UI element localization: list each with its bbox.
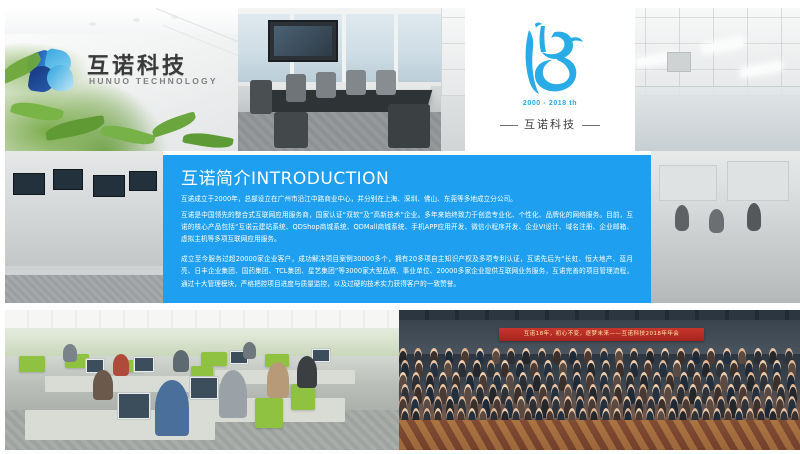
monitor (13, 173, 45, 195)
chair (346, 70, 366, 95)
monitor (53, 169, 83, 190)
event-banner-text: 互诺18年，初心不变，逐梦未来——互诺科技2018年年会 (499, 328, 704, 341)
chair (376, 70, 396, 95)
chair (316, 72, 336, 98)
wall-display (268, 20, 338, 62)
person (267, 362, 289, 398)
cubicle-panel (19, 356, 45, 372)
anniversary-brand-name: 互诺科技 (465, 116, 635, 132)
logo-name-en: HUNUO TECHNOLOGY (89, 76, 218, 86)
chair (250, 80, 272, 114)
photo-workstations-right (651, 151, 800, 303)
person (173, 350, 189, 372)
person (709, 209, 724, 233)
monitor (117, 392, 151, 420)
partition (659, 165, 717, 201)
chair (388, 104, 430, 148)
plant-leaf (182, 130, 233, 151)
photo-group-annual-meeting: 互诺18年，初心不变，逐梦未来——互诺科技2018年年会 (399, 310, 800, 450)
intro-paragraph-1: 互诺成立于2000年，总部设立在广州市沿江中路商业中心，并分别在上海、深圳、佛山… (181, 193, 633, 205)
person (297, 356, 317, 388)
person (113, 354, 129, 376)
chair (274, 112, 308, 148)
intro-title: 互诺简介INTRODUCTION (181, 164, 389, 189)
person (155, 380, 189, 436)
person (747, 203, 761, 231)
intro-paragraph-3: 成立至今服务过超20000家企业客户，成功解决项目案例30000多个，拥有20多… (181, 253, 633, 289)
photo-open-office (5, 310, 399, 450)
intro-paragraph-2: 互诺是中国领先的整合式互联网应用服务商，国家认证“双软”及“高新技术”企业。多年… (181, 209, 633, 245)
introduction-panel: 互诺简介INTRODUCTION 互诺成立于2000年，总部设立在广州市沿江中路… (163, 155, 651, 303)
chair (286, 74, 306, 102)
monitor (189, 376, 219, 400)
person (458, 360, 466, 377)
event-banner: 互诺18年，初心不变，逐梦未来——互诺科技2018年年会 (499, 328, 704, 341)
cubicle-panel (201, 352, 227, 366)
patterned-carpet (399, 420, 800, 450)
person (738, 348, 746, 364)
plant-leaf (10, 98, 64, 125)
anniversary-logo-icon (515, 22, 585, 98)
monitor (129, 171, 157, 191)
person (723, 348, 731, 364)
ceiling (5, 8, 238, 34)
photo-workstations-left (5, 151, 163, 303)
glass-partition (621, 86, 800, 151)
desk-surface (5, 266, 163, 275)
ceiling-panels (5, 310, 399, 328)
person (507, 348, 515, 364)
monitor (133, 356, 155, 373)
monitor (93, 175, 125, 197)
partition (727, 161, 789, 201)
office-chair (255, 398, 283, 428)
ceiling-vent (667, 52, 691, 72)
anniversary-logo-card: 2000 - 2018 th 互诺科技 (465, 8, 635, 151)
plant-leaf (100, 121, 156, 149)
photo-logo-wall: 互诺科技 HUNUO TECHNOLOGY (5, 8, 238, 151)
intro-body: 互诺成立于2000年，总部设立在广州市沿江中路商业中心，并分别在上海、深圳、佛山… (181, 193, 633, 294)
crowd (399, 344, 800, 422)
company-profile-collage: 互诺科技 HUNUO TECHNOLOGY (0, 0, 800, 454)
person (93, 370, 113, 400)
person (63, 344, 77, 362)
person (675, 205, 689, 231)
person (522, 348, 530, 364)
anniversary-years: 2000 - 2018 th (465, 100, 635, 107)
carpet-floor (5, 275, 163, 303)
person (219, 370, 247, 418)
photo-meeting-room (238, 8, 441, 151)
person (243, 342, 256, 359)
